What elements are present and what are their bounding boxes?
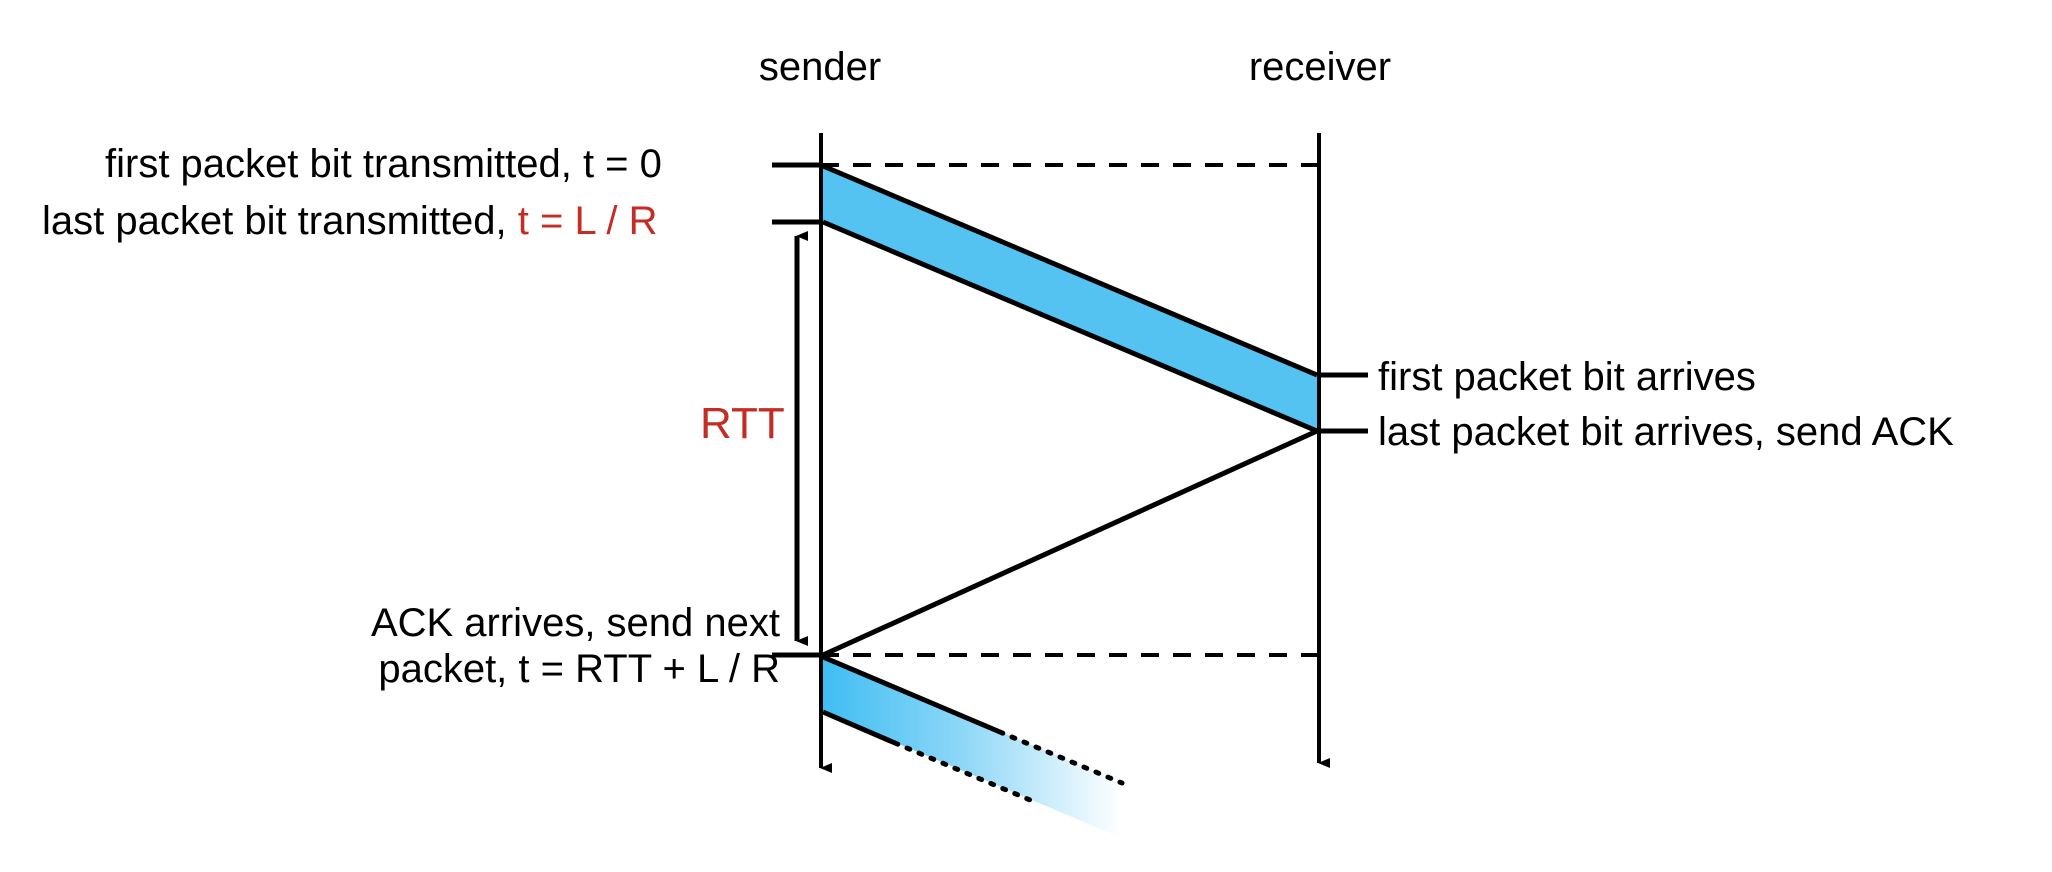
note-ack-arrives-line2-text: packet, xyxy=(378,647,518,691)
rtt-label: RTT xyxy=(700,402,785,446)
receiver-heading: receiver xyxy=(1200,47,1440,87)
first-packet-band xyxy=(823,166,1317,431)
note-ack-arrives-line2-formula: t = RTT + L / R xyxy=(518,647,780,691)
note-ack-arrives: ACK arrives, send next packet, t = RTT +… xyxy=(190,600,780,692)
note-last-bit-transmitted-text: last packet bit transmitted, xyxy=(42,199,518,243)
first-packet-trailing-edge xyxy=(823,222,1317,431)
note-first-bit-transmitted: first packet bit transmitted, t = 0 xyxy=(105,144,662,184)
first-packet-leading-edge xyxy=(823,166,1317,375)
sender-heading: sender xyxy=(700,47,940,87)
ack-transmission-line xyxy=(823,431,1317,655)
note-first-bit-arrives: first packet bit arrives xyxy=(1378,357,1756,397)
note-ack-arrives-line2: packet, t = RTT + L / R xyxy=(190,646,780,692)
timing-diagram-canvas: sender receiver first packet bit transmi… xyxy=(0,0,2052,872)
note-last-bit-transmitted: last packet bit transmitted, t = L / R xyxy=(42,201,657,241)
note-ack-arrives-line1: ACK arrives, send next xyxy=(190,600,780,646)
note-last-bit-transmitted-formula: t = L / R xyxy=(518,199,658,243)
second-packet-band xyxy=(823,657,1122,838)
note-last-bit-arrives: last packet bit arrives, send ACK xyxy=(1378,412,1954,452)
